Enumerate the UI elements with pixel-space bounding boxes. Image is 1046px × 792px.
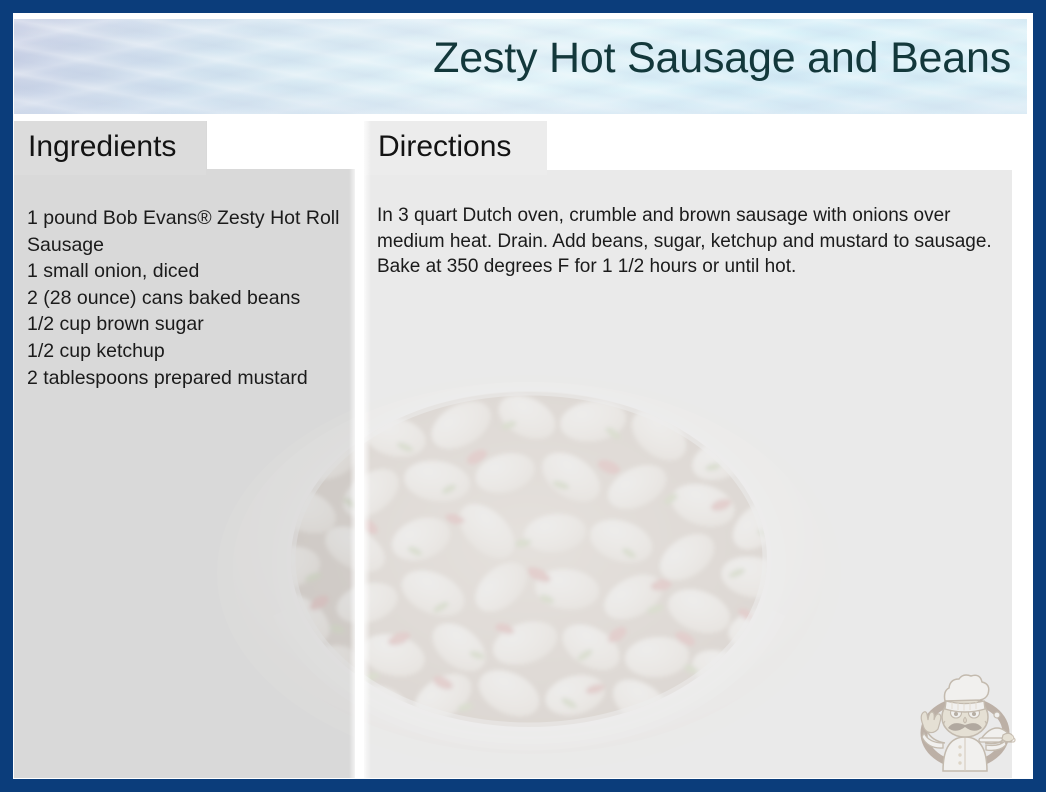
ingredients-panel: Ingredients 1 pound Bob Evans® Zesty Hot… xyxy=(14,121,355,778)
list-item: 1 small onion, diced xyxy=(27,258,347,285)
panel-seam xyxy=(355,121,364,778)
ingredients-tab-gap xyxy=(207,121,355,169)
header-banner: Zesty Hot Sausage and Beans xyxy=(14,19,1027,114)
directions-heading: Directions xyxy=(364,121,547,175)
ingredients-heading: Ingredients xyxy=(14,121,206,175)
directions-tab-gap xyxy=(541,121,1012,170)
recipe-card: Zesty Hot Sausage and Beans Ingredients … xyxy=(0,0,1046,792)
directions-text: In 3 quart Dutch oven, crumble and brown… xyxy=(377,203,1009,280)
page-title: Zesty Hot Sausage and Beans xyxy=(433,37,1011,80)
directions-panel: Directions In 3 quart Dutch oven, crumbl… xyxy=(364,121,1012,778)
list-item: 1 pound Bob Evans® Zesty Hot Roll Sausag… xyxy=(27,205,347,258)
card-inner-page: Zesty Hot Sausage and Beans Ingredients … xyxy=(13,13,1033,779)
list-item: 1/2 cup brown sugar xyxy=(27,311,347,338)
list-item: 1/2 cup ketchup xyxy=(27,338,347,365)
ingredients-list: 1 pound Bob Evans® Zesty Hot Roll Sausag… xyxy=(27,205,347,391)
list-item: 2 (28 ounce) cans baked beans xyxy=(27,285,347,312)
list-item: 2 tablespoons prepared mustard xyxy=(27,365,347,392)
